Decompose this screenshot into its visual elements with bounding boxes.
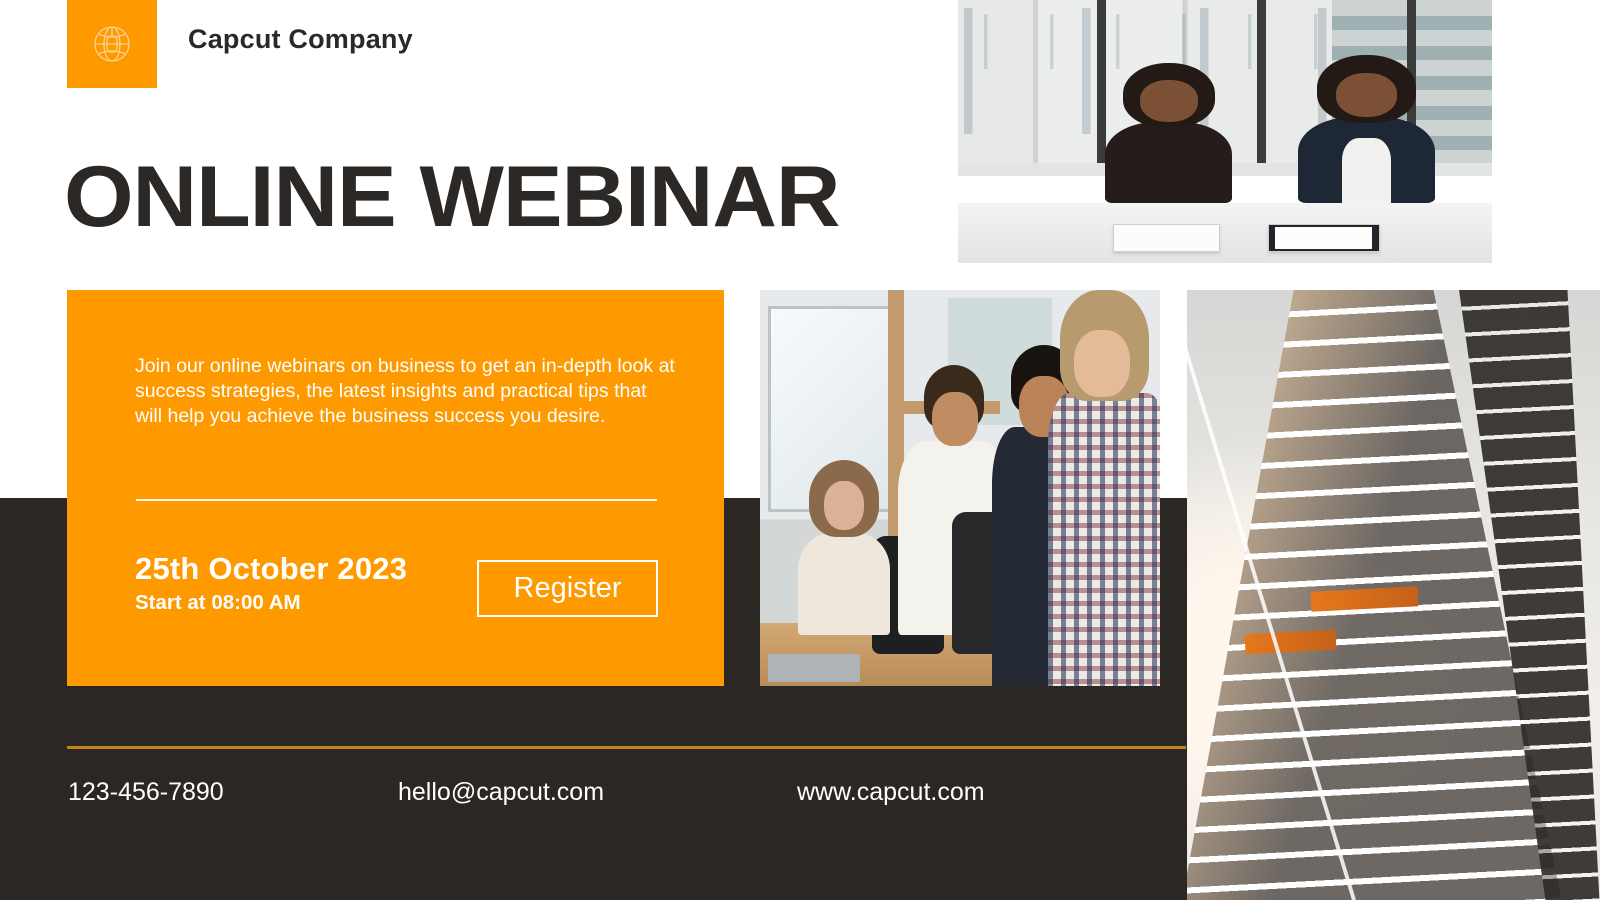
footer-email-address[interactable]: hello@capcut.com: [398, 778, 604, 807]
webinar-start-time: Start at 08:00 AM: [135, 591, 301, 615]
footer-website-url[interactable]: www.capcut.com: [797, 778, 985, 807]
webinar-description: Join our online webinars on business to …: [135, 354, 675, 429]
panel-divider: [136, 499, 657, 501]
webinar-info-panel: Join our online webinars on business to …: [67, 290, 724, 686]
company-name: Capcut Company: [188, 24, 413, 55]
register-button[interactable]: Register: [477, 560, 658, 617]
two-businesswomen-meeting-photo: [958, 0, 1492, 263]
webinar-date: 25th October 2023: [135, 551, 407, 587]
globe-icon: [89, 21, 135, 67]
team-collaboration-laptop-photo: [760, 290, 1160, 686]
logo-tile: [67, 0, 157, 88]
glass-skyscraper-photo: [1187, 290, 1600, 900]
page-title: ONLINE WEBINAR: [64, 147, 839, 247]
footer-contact-row: 123-456-7890 hello@capcut.com www.capcut…: [0, 778, 1186, 812]
footer-divider: [67, 746, 1186, 749]
footer-phone-number[interactable]: 123-456-7890: [68, 778, 224, 807]
